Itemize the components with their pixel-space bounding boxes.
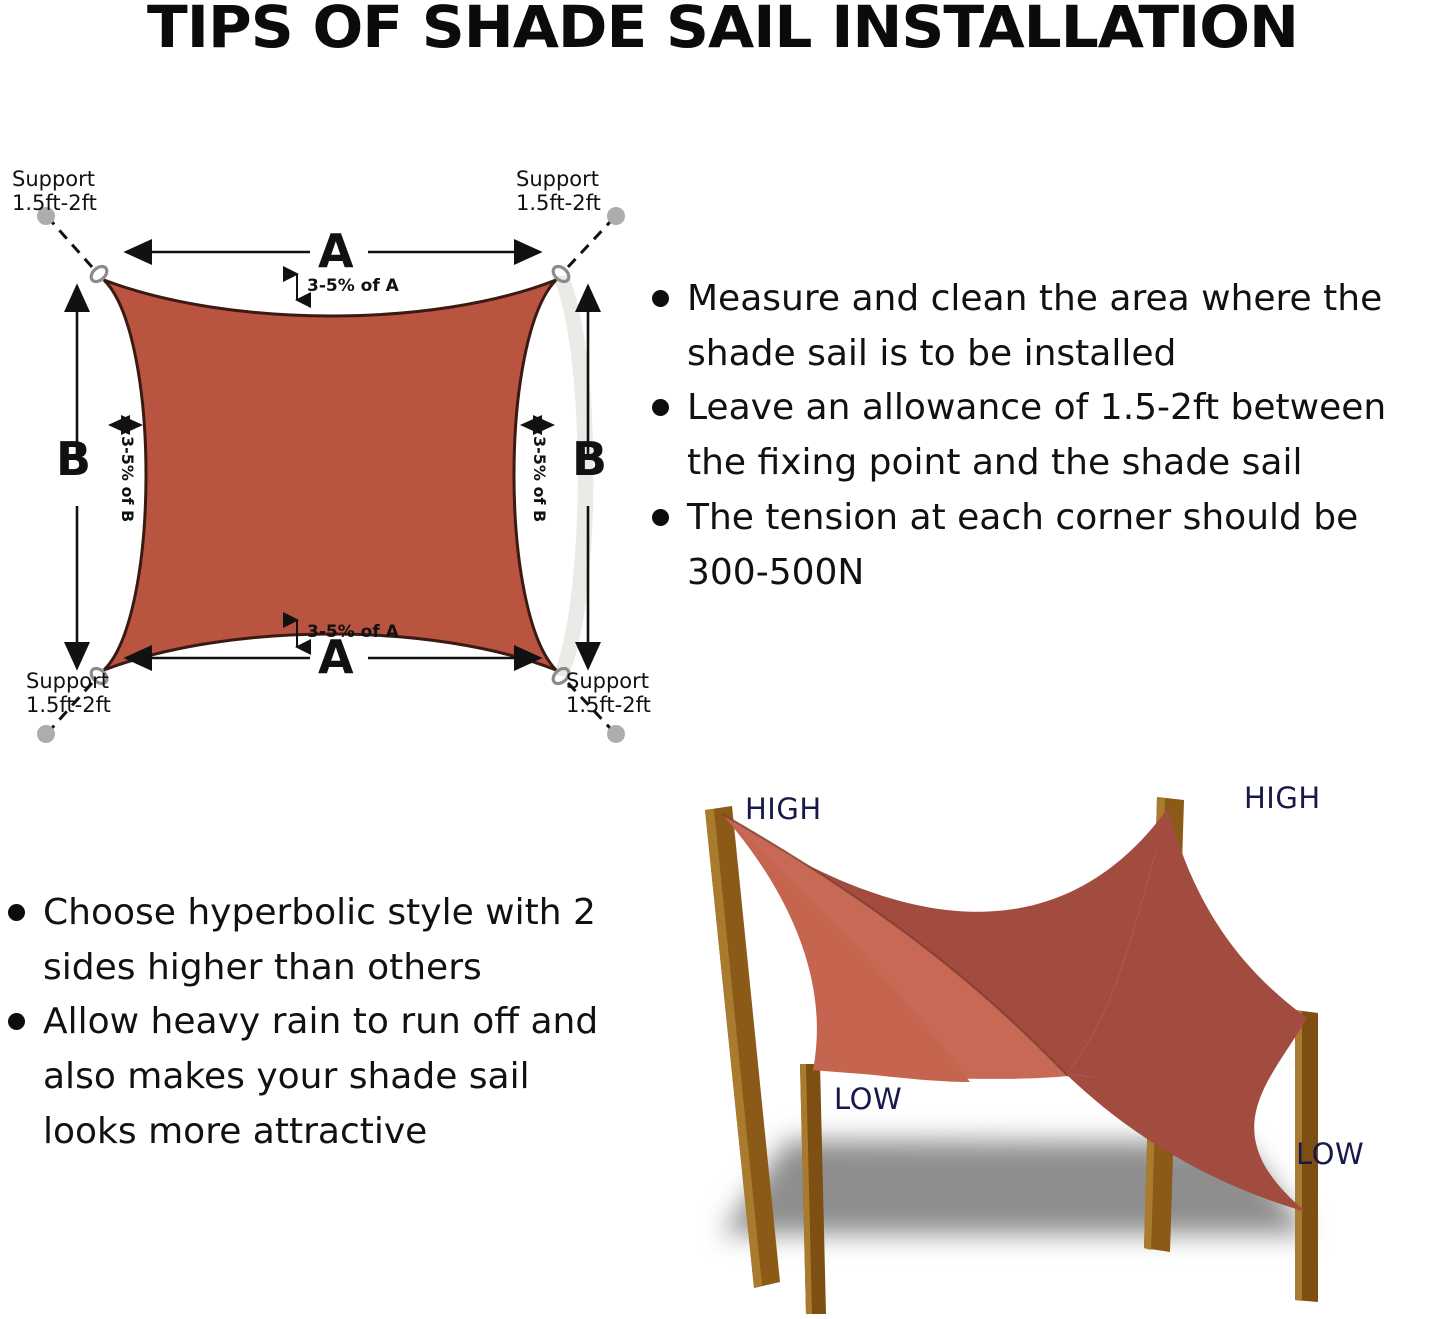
support-label-line1: Support: [26, 669, 109, 693]
support-label-line2: 1.5ft-2ft: [566, 693, 651, 717]
support-label-line1: Support: [12, 167, 95, 191]
list-item: The tension at each corner should be 300…: [652, 491, 1445, 600]
sail-fabric: [104, 280, 556, 670]
tips-list-bottom: Choose hyperbolic style with 2 sides hig…: [8, 886, 628, 1160]
tip-text: Choose hyperbolic style with 2 sides hig…: [43, 886, 628, 995]
support-label-top-left: Support 1.5ft-2ft: [12, 168, 97, 215]
bullet-dot-icon: [652, 290, 669, 307]
curve-label-b-left: 3-5% of B: [119, 436, 135, 522]
support-label-line2: 1.5ft-2ft: [26, 693, 111, 717]
list-item: Choose hyperbolic style with 2 sides hig…: [8, 886, 628, 995]
support-label-line2: 1.5ft-2ft: [516, 191, 601, 215]
bullet-dot-icon: [652, 509, 669, 526]
hyperbolic-sail-diagram: HIGH HIGH LOW LOW: [670, 782, 1445, 1319]
list-item: Leave an allowance of 1.5-2ft between th…: [652, 381, 1445, 490]
curve-label-b-right: 3-5% of B: [531, 436, 547, 522]
bullet-dot-icon: [8, 904, 25, 921]
support-label-line1: Support: [516, 167, 599, 191]
dimension-letter-b-left: B: [56, 436, 91, 482]
list-item: Allow heavy rain to run off and also mak…: [8, 995, 628, 1159]
curve-label-a-top: 3-5% of A: [307, 278, 399, 295]
tip-text: Leave an allowance of 1.5-2ft between th…: [687, 381, 1445, 490]
support-label-bottom-left: Support 1.5ft-2ft: [26, 670, 111, 717]
rectangular-sail-diagram: Support 1.5ft-2ft Support 1.5ft-2ft Supp…: [0, 150, 700, 770]
tip-text: The tension at each corner should be 300…: [687, 491, 1445, 600]
tip-text: Allow heavy rain to run off and also mak…: [43, 995, 628, 1159]
list-item: Measure and clean the area where the sha…: [652, 272, 1445, 381]
tip-text: Measure and clean the area where the sha…: [687, 272, 1445, 381]
support-label-line1: Support: [566, 669, 649, 693]
dimension-letter-a-top: A: [318, 228, 354, 274]
page-title: TIPS OF SHADE SAIL INSTALLATION: [0, 0, 1445, 56]
post-label-low-left: LOW: [834, 1082, 902, 1116]
bullet-dot-icon: [652, 399, 669, 416]
post-label-high-left: HIGH: [745, 792, 822, 826]
support-label-top-right: Support 1.5ft-2ft: [516, 168, 601, 215]
dimension-letter-b-right: B: [572, 436, 607, 482]
bullet-dot-icon: [8, 1013, 25, 1030]
tips-list-top: Measure and clean the area where the sha…: [652, 272, 1445, 600]
support-label-line2: 1.5ft-2ft: [12, 191, 97, 215]
curve-label-a-bottom: 3-5% of A: [307, 624, 399, 641]
infographic-page: TIPS OF SHADE SAIL INSTALLATION: [0, 0, 1445, 1319]
post-label-high-right: HIGH: [1244, 781, 1321, 815]
post-label-low-right: LOW: [1296, 1137, 1364, 1171]
support-label-bottom-right: Support 1.5ft-2ft: [566, 670, 651, 717]
